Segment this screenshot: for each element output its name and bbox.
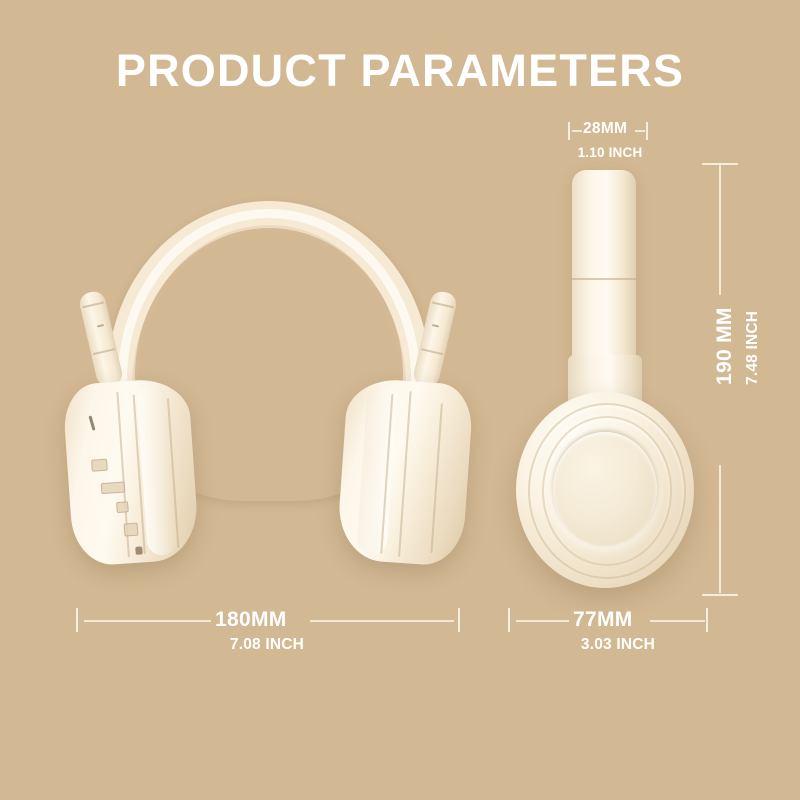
slider-mark-right: [432, 324, 439, 328]
dimension-value-inch: 1.10 INCH: [570, 146, 650, 160]
dimension-value-mm: 190 MM: [714, 307, 735, 385]
earcup-center-disc: [553, 432, 657, 546]
dim-cap-left: [76, 608, 78, 632]
dimension-value-inch: 7.08 INCH: [187, 637, 347, 653]
dim-line-left: [516, 620, 569, 622]
dim-line-right: [650, 620, 705, 622]
dim-cap-right: [646, 122, 648, 140]
dimension-value-mm: 180MM: [215, 609, 287, 630]
slider-seam-right-top: [432, 301, 454, 307]
page-title: PRODUCT PARAMETERS: [0, 48, 800, 93]
dim-cap-right: [706, 608, 708, 632]
power-button[interactable]: [91, 459, 108, 472]
earcup-left: [62, 377, 200, 567]
microphone-slot-icon: [88, 415, 95, 430]
earcup-right-ridge-3: [430, 403, 442, 553]
slider-seam-right-bottom: [421, 348, 443, 354]
slider-seam-left-bottom: [93, 348, 115, 354]
dim-tick-right: [635, 130, 645, 132]
dim-line-lower: [719, 465, 721, 593]
dim-line-right: [310, 620, 454, 622]
headphones-side-view: [498, 160, 713, 600]
dim-tick-left: [572, 130, 582, 132]
product-parameters-image: PRODUCT PARAMETERS: [0, 0, 800, 800]
dim-line-upper: [719, 165, 721, 295]
mode-button[interactable]: [116, 501, 129, 513]
dimension-value-mm: 77MM: [573, 609, 633, 630]
earcup-right: [336, 377, 474, 567]
dimension-value-mm: 28MM: [583, 121, 627, 137]
dim-cap-left: [568, 122, 570, 140]
charging-port: [135, 546, 143, 554]
dim-cap-right: [458, 608, 460, 632]
aux-port: [124, 523, 139, 537]
earcup-right-ridge-2: [398, 391, 411, 557]
headphones-front-view: [60, 195, 480, 595]
dimension-value-inch: 7.48 INCH: [745, 311, 761, 385]
dim-cap-left: [508, 608, 510, 632]
dim-cap-bottom: [702, 594, 738, 596]
headband-arm-seam: [572, 278, 636, 280]
dimension-value-inch: 3.03 INCH: [528, 637, 708, 653]
slider-seam-left-top: [82, 301, 104, 307]
dim-line-left: [84, 620, 211, 622]
slider-mark-left: [97, 324, 104, 328]
volume-button[interactable]: [101, 481, 126, 494]
